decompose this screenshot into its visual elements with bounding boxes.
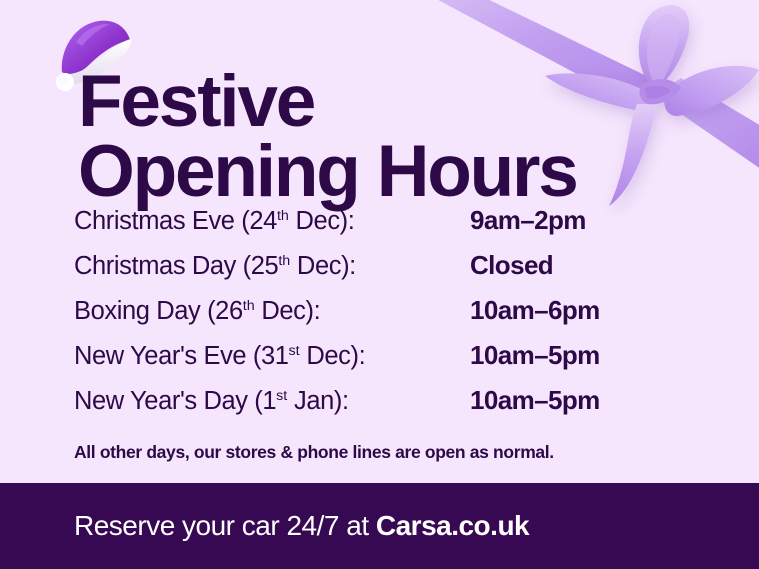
heading-line-1: Festive <box>78 67 678 137</box>
table-row: Christmas Day (25th Dec): Closed <box>74 250 714 295</box>
day-label: Boxing Day (26th Dec): <box>74 297 470 326</box>
table-row: New Year's Day (1st Jan): 10am–5pm <box>74 385 714 430</box>
footer-lead-text: Reserve your car 24/7 at <box>74 510 376 541</box>
ordinal-suffix: th <box>243 298 255 314</box>
brand-name: Carsa.co.uk <box>376 510 529 541</box>
festive-opening-hours-poster: Festive Opening Hours Christmas Eve (24t… <box>0 0 759 569</box>
day-label: New Year's Day (1st Jan): <box>74 387 470 416</box>
table-row: Christmas Eve (24th Dec): 9am–2pm <box>74 205 714 250</box>
table-row: New Year's Eve (31st Dec): 10am–5pm <box>74 340 714 385</box>
hours-value: 10am–5pm <box>470 340 600 371</box>
opening-hours-table: Christmas Eve (24th Dec): 9am–2pm Christ… <box>74 205 714 430</box>
page-title: Festive Opening Hours <box>78 67 678 207</box>
footer-bar: Reserve your car 24/7 at Carsa.co.uk <box>0 483 759 569</box>
footer-tagline: Reserve your car 24/7 at Carsa.co.uk <box>74 510 529 542</box>
ordinal-suffix: st <box>276 388 287 404</box>
hours-value: 10am–5pm <box>470 385 600 416</box>
hours-value: Closed <box>470 250 553 281</box>
heading-line-2: Opening Hours <box>78 137 678 207</box>
footnote-text: All other days, our stores & phone lines… <box>74 442 554 463</box>
hours-value: 9am–2pm <box>470 205 586 236</box>
day-label: Christmas Eve (24th Dec): <box>74 207 470 236</box>
day-label: Christmas Day (25th Dec): <box>74 252 470 281</box>
ordinal-suffix: th <box>278 253 290 269</box>
day-label: New Year's Eve (31st Dec): <box>74 342 470 371</box>
hours-value: 10am–6pm <box>470 295 600 326</box>
table-row: Boxing Day (26th Dec): 10am–6pm <box>74 295 714 340</box>
ordinal-suffix: st <box>289 343 300 359</box>
ordinal-suffix: th <box>277 208 289 224</box>
